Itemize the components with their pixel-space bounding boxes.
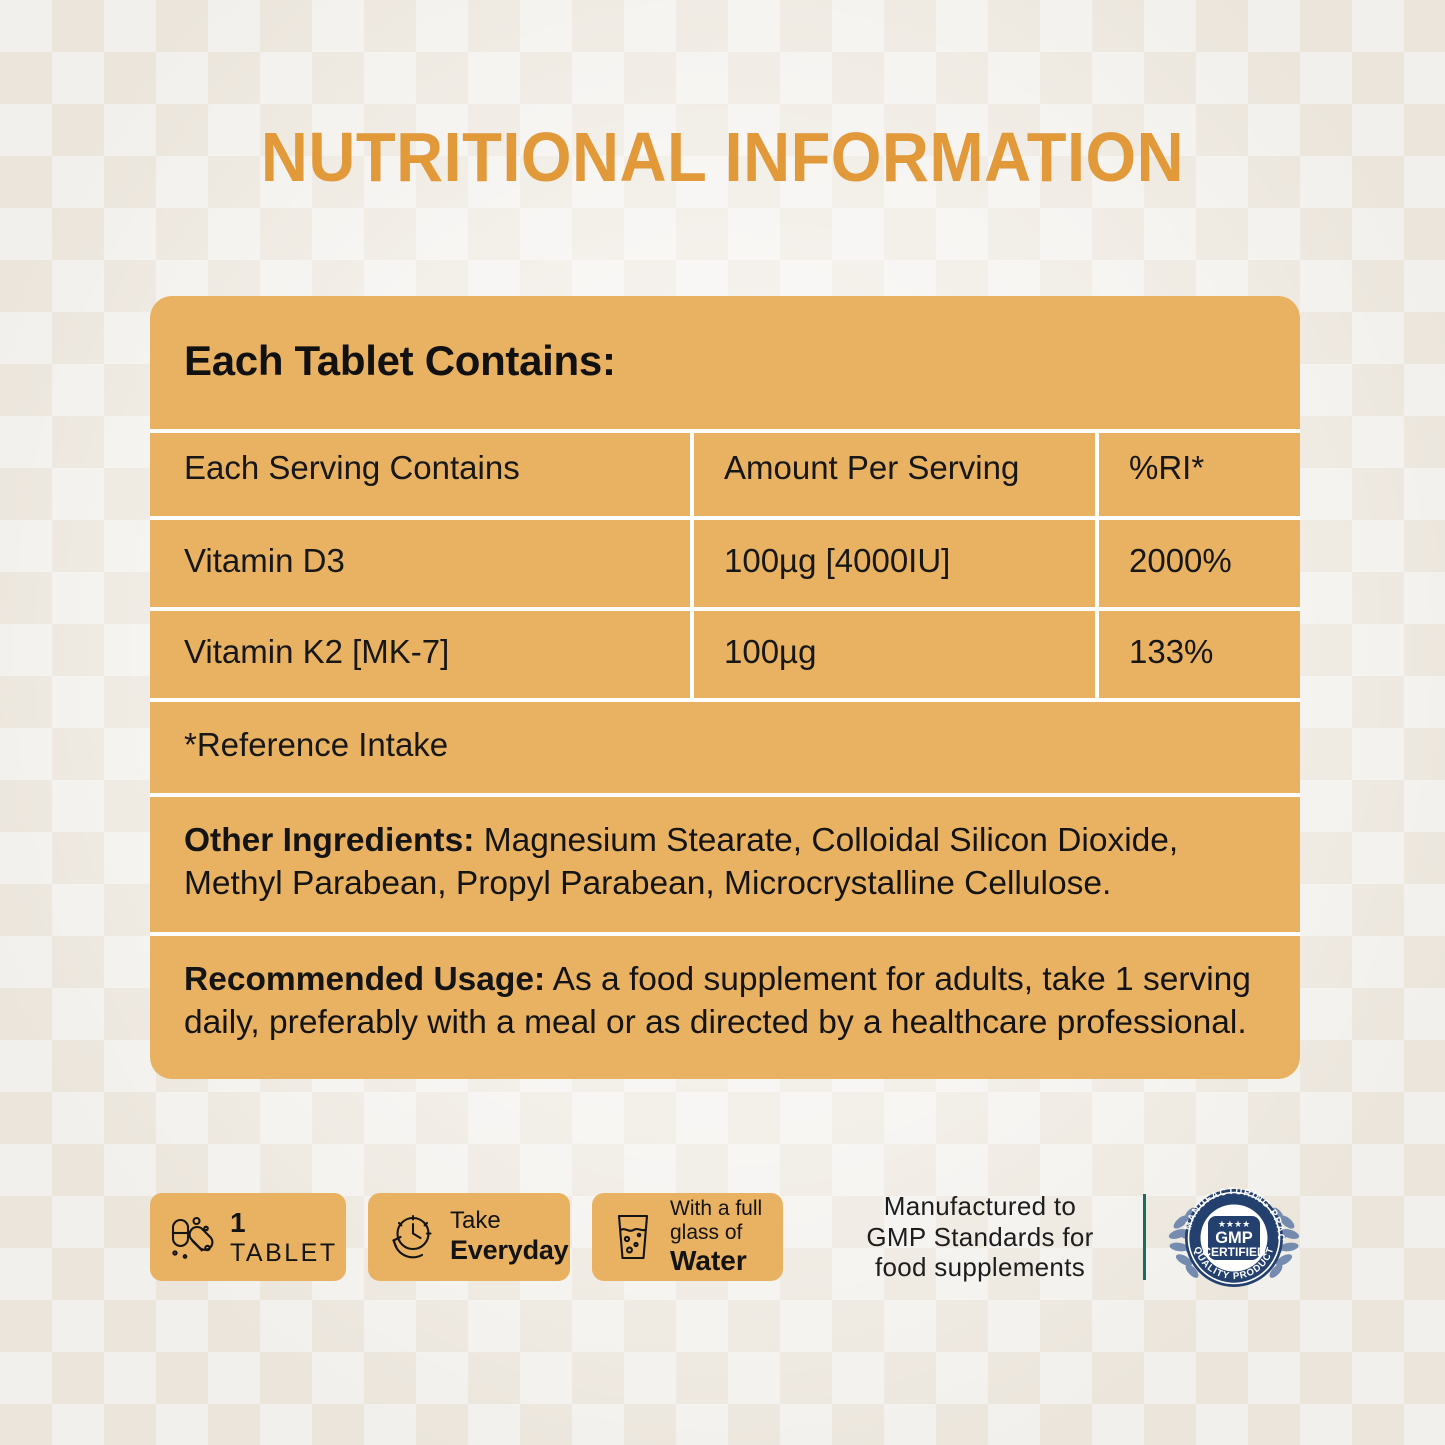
badge-tablet-count: 1	[230, 1207, 247, 1238]
page-title: NUTRITIONAL INFORMATION	[51, 117, 1395, 197]
badge-everyday-line2: Everyday	[450, 1235, 569, 1265]
table-row: Vitamin K2 [MK-7] 100µg 133%	[150, 607, 1300, 698]
nutrition-label-page: NUTRITIONAL INFORMATION Each Tablet Cont…	[0, 0, 1445, 1445]
table-header-nutrient: Each Serving Contains	[150, 429, 690, 516]
reference-intake-note: *Reference Intake	[150, 698, 1300, 793]
seal-center-line2: CERTIFIED	[1202, 1245, 1266, 1259]
table-header-row: Each Serving Contains Amount Per Serving…	[150, 429, 1300, 516]
gmp-statement: Manufactured to GMP Standards for food s…	[835, 1191, 1125, 1283]
badge-water-line3: Water	[670, 1245, 747, 1276]
badge-tablet-unit: TABLET	[230, 1239, 338, 1267]
gmp-statement-line3: food supplements	[835, 1252, 1125, 1283]
gmp-certified-seal-icon: ★★★★ GMP CERTIFIED GOOD MANUFACTURING PR…	[1168, 1172, 1300, 1304]
nutrition-info-card: Each Tablet Contains: Each Serving Conta…	[150, 296, 1300, 1079]
cell-amount: 100µg	[690, 607, 1095, 698]
cell-nutrient: Vitamin K2 [MK-7]	[150, 607, 690, 698]
gmp-statement-line1: Manufactured to	[835, 1191, 1125, 1222]
badge-tablet: 1 TABLET	[150, 1193, 346, 1281]
badge-water-line2: glass of	[670, 1221, 742, 1244]
cell-nutrient: Vitamin D3	[150, 516, 690, 607]
seal-stars: ★★★★	[1218, 1219, 1250, 1229]
badge-tablet-label: 1 TABLET	[230, 1207, 338, 1268]
other-ingredients-block: Other Ingredients: Magnesium Stearate, C…	[150, 793, 1300, 932]
table-header-ri: %RI*	[1095, 429, 1300, 516]
cell-ri: 133%	[1095, 607, 1300, 698]
table-header-amount: Amount Per Serving	[690, 429, 1095, 516]
badge-everyday-line1: Take	[450, 1207, 501, 1234]
badge-water: With a full glass of Water	[592, 1193, 783, 1281]
badge-row: 1 TABLET Take Everyday	[150, 1192, 1300, 1282]
pill-icon	[166, 1211, 218, 1263]
other-ingredients-label: Other Ingredients:	[184, 822, 474, 859]
cell-amount: 100µg [4000IU]	[690, 516, 1095, 607]
badge-water-line1: With a full	[670, 1197, 762, 1220]
card-heading: Each Tablet Contains:	[150, 296, 1300, 429]
recommended-usage-block: Recommended Usage: As a food supplement …	[150, 932, 1300, 1079]
badge-everyday: Take Everyday	[368, 1193, 570, 1281]
badge-everyday-label: Take Everyday	[450, 1208, 569, 1266]
water-glass-icon	[608, 1209, 658, 1265]
nutrition-table: Each Serving Contains Amount Per Serving…	[150, 429, 1300, 793]
table-footnote-row: *Reference Intake	[150, 698, 1300, 793]
gmp-statement-line2: GMP Standards for	[835, 1222, 1125, 1253]
clock-icon	[384, 1210, 438, 1264]
cell-ri: 2000%	[1095, 516, 1300, 607]
recommended-usage-label: Recommended Usage:	[184, 961, 545, 998]
badge-water-label: With a full glass of Water	[670, 1197, 762, 1277]
table-row: Vitamin D3 100µg [4000IU] 2000%	[150, 516, 1300, 607]
vertical-divider	[1143, 1194, 1146, 1280]
